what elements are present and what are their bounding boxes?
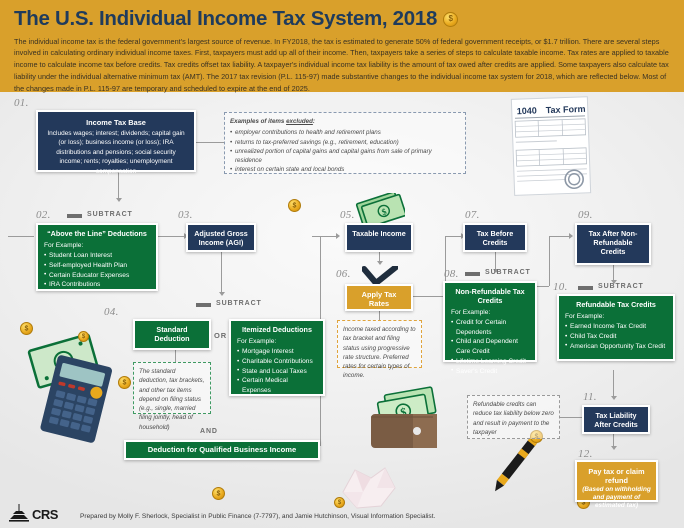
crs-seal-icon [8, 503, 30, 523]
step-number-09: 09. [578, 209, 593, 221]
note-excluded-list: employer contributions to health and ret… [230, 128, 460, 174]
step-title-02: “Above the Line” Deductions [44, 230, 150, 239]
list-item: unrealized portion of capital gains and … [230, 147, 460, 166]
list-item: American Opportunity Tax Credit [565, 342, 667, 352]
step-example-label-04: For Example: [237, 337, 317, 347]
connector-01-note [196, 142, 224, 143]
operator-label-03: SUBTRACT [216, 300, 262, 307]
arrow-down-03 [219, 292, 225, 296]
wallet-illustration: $ [355, 386, 455, 456]
step-example-label-02: For Example: [44, 241, 150, 251]
step-box-tax-after-non-refundable-credits[interactable]: Tax After Non-Refundable Credits [575, 223, 651, 265]
step-box-income-tax-base[interactable]: Income Tax Base Includes wages; interest… [36, 110, 196, 172]
infographic-canvas: The U.S. Individual Income Tax System, 2… [0, 0, 684, 528]
footer-credit: Prepared by Molly F. Sherlock, Specialis… [80, 513, 435, 520]
arrow-down-11 [611, 396, 617, 400]
list-item: Certain Educator Expenses [44, 271, 150, 281]
connector-06-07a [409, 296, 445, 297]
step-number-11: 11. [583, 391, 597, 403]
list-item: Lifetime Learning Credit [451, 357, 529, 367]
list-item: interest on certain state and local bond… [230, 165, 460, 174]
subtract-dash-03 [196, 303, 211, 307]
connector-note-11 [560, 417, 582, 418]
subtract-dash-08 [465, 272, 480, 276]
step-box-itemized-deductions[interactable]: Itemized Deductions For Example: Mortgag… [229, 319, 325, 396]
arrow-right-09 [569, 233, 573, 239]
step-title-05: Taxable Income [351, 230, 407, 239]
note-refundable-credits: Refundable credits can reduce tax liabil… [467, 395, 560, 439]
step-title-09: Tax After Non-Refundable Credits [581, 230, 645, 256]
arrow-down-01 [116, 198, 122, 202]
connector-03-down [221, 252, 222, 294]
step-box-tax-liability-after-credits[interactable]: Tax Liability After Credits [582, 405, 650, 434]
svg-text:Tax Form: Tax Form [546, 104, 586, 115]
list-item: Certain Medical Expenses [237, 376, 317, 395]
list-item: returns to tax-preferred savings (e.g., … [230, 138, 460, 147]
step-title-07: Tax Before Credits [469, 230, 521, 248]
step-number-06: 06. [336, 268, 351, 280]
subtract-dash-10 [578, 286, 593, 290]
step-number-01: 01. [14, 97, 29, 109]
step-items-10: Earned Income Tax Credit Child Tax Credi… [565, 322, 667, 351]
list-item: employer contributions to health and ret… [230, 128, 460, 137]
coin-icon [443, 12, 458, 27]
arrow-down-12 [611, 446, 617, 450]
step-box-non-refundable-tax-credits[interactable]: Non-Refundable Tax Credits For Example: … [443, 281, 537, 362]
step-number-07: 07. [465, 209, 480, 221]
operator-label-10: SUBTRACT [598, 283, 644, 290]
footer: CRS Prepared by Molly F. Sherlock, Speci… [0, 498, 684, 528]
connector-02-03 [158, 236, 186, 237]
coin-icon-3 [78, 331, 89, 342]
page-title-text: The U.S. Individual Income Tax System, 2… [14, 8, 437, 31]
step-number-08: 08. [444, 268, 459, 280]
note-excluded-heading: Examples of items excluded: [230, 117, 460, 126]
list-item: Child Tax Credit [565, 332, 667, 342]
step-title-08: Non-Refundable Tax Credits [451, 288, 529, 306]
step-box-pay-tax-or-claim-refund[interactable]: Pay tax or claim refund (Based on withho… [575, 460, 658, 502]
step-number-05: 05. [340, 209, 355, 221]
step-title-04-standard: Standard Deduction [139, 326, 205, 344]
connector-08-09a [549, 236, 550, 286]
connector-std-note [175, 350, 176, 362]
arrow-down-06 [377, 261, 383, 265]
coin-icon-1 [288, 199, 301, 212]
arrow-right-05 [336, 233, 340, 239]
step-box-apply-tax-rates[interactable]: Apply Tax Rates [345, 284, 413, 311]
connector-04-rail-bottom [8, 236, 34, 237]
step-example-label-10: For Example: [565, 312, 667, 322]
operator-label-02: SUBTRACT [87, 211, 133, 218]
operator-label-or: OR [214, 331, 227, 340]
crs-logo: CRS [32, 507, 58, 522]
note-tax-rates: Income taxed according to tax bracket an… [337, 320, 422, 368]
list-item: Self-employed Health Plan [44, 261, 150, 271]
step-title-11: Tax Liability After Credits [588, 412, 644, 430]
step-items-02: Student Loan Interest Self-employed Heal… [44, 251, 150, 290]
connector-08-09b [537, 286, 549, 287]
connector-01-down [118, 172, 119, 200]
step-title-06: Apply Tax Rates [351, 290, 407, 308]
step-items-04: Mortgage Interest Charitable Contributio… [237, 347, 317, 395]
step-box-adjusted-gross-income[interactable]: Adjusted Gross Income (AGI) [186, 223, 256, 252]
subtract-dash-02 [67, 214, 82, 218]
svg-text:1040: 1040 [517, 106, 537, 117]
intro-paragraph: The individual income tax is the federal… [0, 31, 684, 95]
list-item: Mortgage Interest [237, 347, 317, 357]
step-title-04-qbi: Deduction for Qualified Business Income [148, 445, 297, 454]
step-box-taxable-income[interactable]: Taxable Income [345, 223, 413, 252]
list-item: Saver's Credit [451, 367, 529, 377]
step-box-tax-before-credits[interactable]: Tax Before Credits [463, 223, 527, 252]
coin-icon-2 [20, 322, 33, 335]
step-title-04-itemized: Itemized Deductions [237, 326, 317, 335]
step-example-label-08: For Example: [451, 308, 529, 318]
operator-label-and: AND [200, 428, 218, 435]
step-title-03: Adjusted Gross Income (AGI) [192, 230, 250, 248]
cash-illustration: $ [355, 193, 405, 225]
step-body-01: Includes wages; interest; dividends; cap… [45, 129, 187, 176]
page-title: The U.S. Individual Income Tax System, 2… [0, 0, 684, 31]
connector-08-09c [549, 236, 571, 237]
connector-10-11 [613, 370, 614, 398]
step-box-standard-deduction[interactable]: Standard Deduction [133, 319, 211, 350]
step-title-10: Refundable Tax Credits [565, 301, 667, 310]
header-banner: The U.S. Individual Income Tax System, 2… [0, 0, 684, 92]
calculator-illustration: $ [8, 332, 126, 444]
coin-icon-8 [118, 376, 131, 389]
step-box-refundable-tax-credits[interactable]: Refundable Tax Credits For Example: Earn… [557, 294, 675, 361]
step-number-10: 10. [553, 281, 568, 293]
list-item: Student Loan Interest [44, 251, 150, 261]
connector-04-05 [312, 236, 338, 237]
step-number-04: 04. [104, 306, 119, 318]
note-standard-deduction: The standard deduction, tax brackets, an… [133, 362, 211, 414]
step-number-02: 02. [36, 209, 51, 221]
step-number-12: 12. [578, 448, 593, 460]
step-title-01: Income Tax Base [45, 118, 187, 127]
note-excluded-items: Examples of items excluded: employer con… [224, 112, 466, 174]
list-item: State and Local Taxes [237, 367, 317, 377]
step-box-qbi-deduction[interactable]: Deduction for Qualified Business Income [124, 440, 320, 460]
step-title-12: Pay tax or claim refund [581, 467, 652, 485]
list-item: Credit for Certain Dependents [451, 318, 529, 337]
step-items-08: Credit for Certain Dependents Child and … [451, 318, 529, 376]
list-item: Charitable Contributions [237, 357, 317, 367]
connector-06-note [379, 310, 380, 320]
step-box-above-the-line-deductions[interactable]: “Above the Line” Deductions For Example:… [36, 223, 158, 291]
list-item: IRA Contributions [44, 280, 150, 290]
list-item: Earned Income Tax Credit [565, 322, 667, 332]
operator-label-08: SUBTRACT [485, 269, 531, 276]
list-item: Child and Dependent Care Credit [451, 337, 529, 356]
step-number-03: 03. [178, 209, 193, 221]
tax-form-illustration: 1040 Tax Form [505, 96, 600, 196]
